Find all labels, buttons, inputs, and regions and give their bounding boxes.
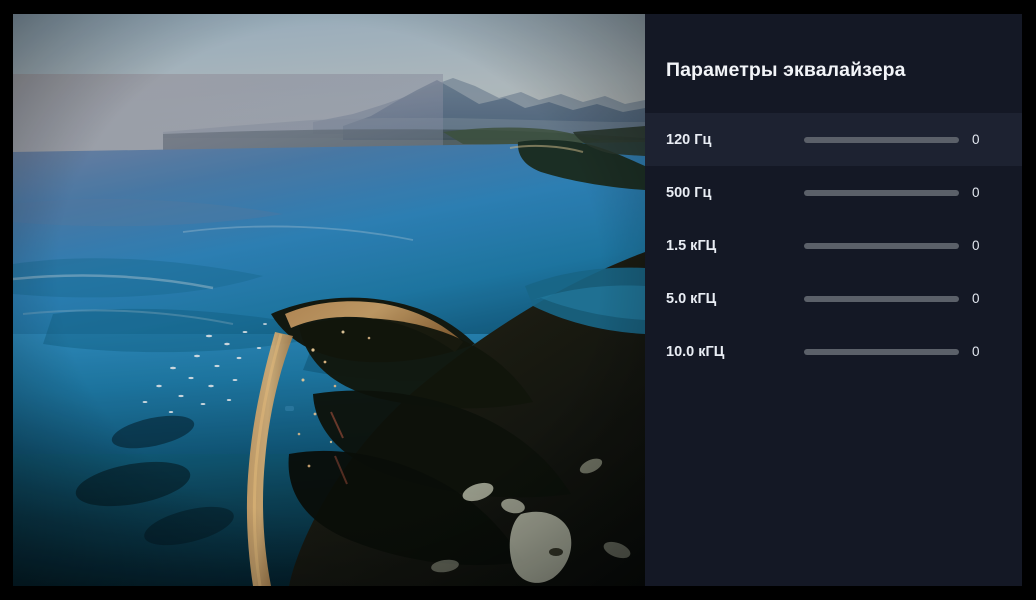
band-value: 0 [972, 132, 996, 147]
band-slider[interactable] [804, 137, 959, 143]
equalizer-band-row[interactable]: 10.0 кГЦ 0 [645, 325, 1022, 378]
band-label: 120 Гц [666, 132, 711, 148]
band-value: 0 [972, 344, 996, 359]
page-title: Параметры эквалайзера [666, 59, 906, 82]
band-label: 500 Гц [666, 185, 711, 201]
band-label: 1.5 кГЦ [666, 238, 716, 254]
equalizer-band-row[interactable]: 120 Гц 0 [645, 113, 1022, 166]
photo-artwork [13, 14, 645, 586]
band-value: 0 [972, 238, 996, 253]
band-label: 10.0 кГЦ [666, 344, 724, 360]
background-photo [13, 14, 645, 586]
content-area: Параметры эквалайзера 120 Гц 0 500 Гц 0 [13, 14, 1022, 586]
band-slider[interactable] [804, 243, 959, 249]
band-value: 0 [972, 185, 996, 200]
band-slider[interactable] [804, 349, 959, 355]
equalizer-band-row[interactable]: 1.5 кГЦ 0 [645, 219, 1022, 272]
band-label: 5.0 кГЦ [666, 291, 716, 307]
equalizer-panel: Параметры эквалайзера 120 Гц 0 500 Гц 0 [645, 14, 1022, 586]
tv-screen: Параметры эквалайзера 120 Гц 0 500 Гц 0 [0, 0, 1036, 600]
equalizer-band-row[interactable]: 5.0 кГЦ 0 [645, 272, 1022, 325]
band-value: 0 [972, 291, 996, 306]
band-slider[interactable] [804, 190, 959, 196]
band-slider[interactable] [804, 296, 959, 302]
equalizer-band-row[interactable]: 500 Гц 0 [645, 166, 1022, 219]
equalizer-band-list: 120 Гц 0 500 Гц 0 1.5 кГЦ [645, 113, 1022, 378]
